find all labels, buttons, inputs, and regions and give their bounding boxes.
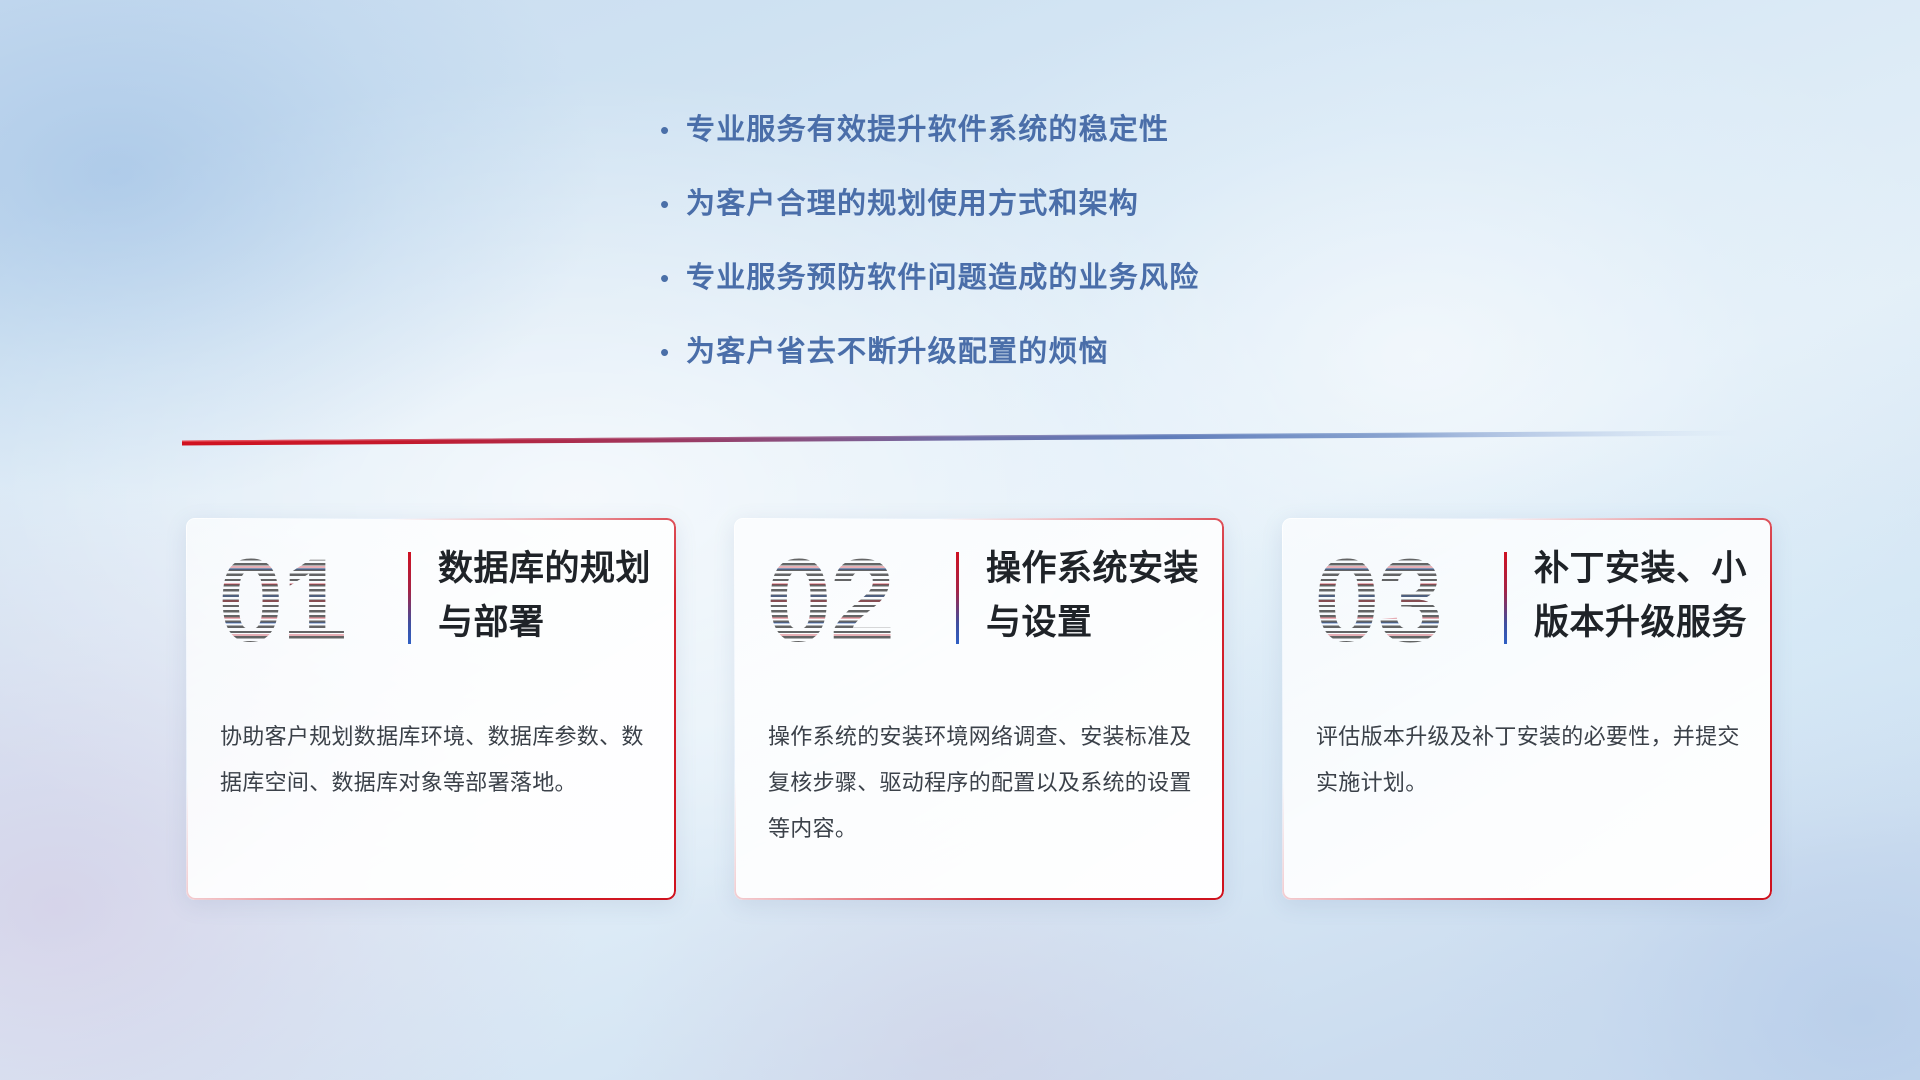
service-card-01[interactable]: 01 01 01 数据库的规划与部署 协助客户规划数据库环境、数据库参数、数据库…: [186, 518, 676, 900]
card-body-text: 评估版本升级及补丁安装的必要性，并提交实施计划。: [1316, 714, 1744, 806]
slide-root: • 专业服务有效提升软件系统的稳定性 • 为客户合理的规划使用方式和架构 • 专…: [0, 0, 1920, 1080]
list-item: • 为客户省去不断升级配置的烦恼: [660, 332, 1560, 372]
service-card-02[interactable]: 02 02 02 操作系统安装与设置 操作系统的安装环境网络调查、安装标准及复核…: [734, 518, 1224, 900]
bullet-text-4: 为客户省去不断升级配置的烦恼: [686, 332, 1109, 372]
card-body-text: 协助客户规划数据库环境、数据库参数、数据库空间、数据库对象等部署落地。: [220, 714, 648, 806]
section-divider: [182, 424, 1742, 446]
card-number-blue-stripes: 02: [766, 532, 930, 670]
service-card-row: 01 01 01 数据库的规划与部署 协助客户规划数据库环境、数据库参数、数据库…: [186, 518, 1774, 900]
service-card-03[interactable]: 03 03 03 补丁安装、小版本升级服务 评估版本升级及补丁安装的必要性，并提…: [1282, 518, 1772, 900]
list-item: • 为客户合理的规划使用方式和架构: [660, 184, 1560, 224]
divider-wedge-icon: [182, 424, 1742, 446]
card-header: 02 02 02 操作系统安装与设置: [734, 518, 1224, 686]
bullet-dot-icon: •: [660, 332, 686, 372]
card-number-blue-stripes: 01: [218, 532, 382, 670]
list-item: • 专业服务预防软件问题造成的业务风险: [660, 258, 1560, 298]
card-header: 03 03 03 补丁安装、小版本升级服务: [1282, 518, 1772, 686]
bullet-dot-icon: •: [660, 110, 686, 150]
card-accent-bar: [1504, 552, 1507, 644]
bullet-text-1: 专业服务有效提升软件系统的稳定性: [686, 110, 1169, 150]
benefits-bullet-list: • 专业服务有效提升软件系统的稳定性 • 为客户合理的规划使用方式和架构 • 专…: [660, 110, 1560, 406]
card-title: 数据库的规划与部署: [438, 542, 656, 650]
bullet-dot-icon: •: [660, 258, 686, 298]
card-title: 补丁安装、小版本升级服务: [1534, 542, 1752, 650]
bullet-text-3: 专业服务预防软件问题造成的业务风险: [686, 258, 1199, 298]
card-title: 操作系统安装与设置: [986, 542, 1204, 650]
card-accent-bar: [956, 552, 959, 644]
card-header: 01 01 01 数据库的规划与部署: [186, 518, 676, 686]
card-number-blue-stripes: 03: [1314, 532, 1478, 670]
bullet-dot-icon: •: [660, 184, 686, 224]
card-body-text: 操作系统的安装环境网络调查、安装标准及复核步骤、驱动程序的配置以及系统的设置等内…: [768, 714, 1196, 852]
list-item: • 专业服务有效提升软件系统的稳定性: [660, 110, 1560, 150]
card-accent-bar: [408, 552, 411, 644]
bullet-text-2: 为客户合理的规划使用方式和架构: [686, 184, 1139, 224]
